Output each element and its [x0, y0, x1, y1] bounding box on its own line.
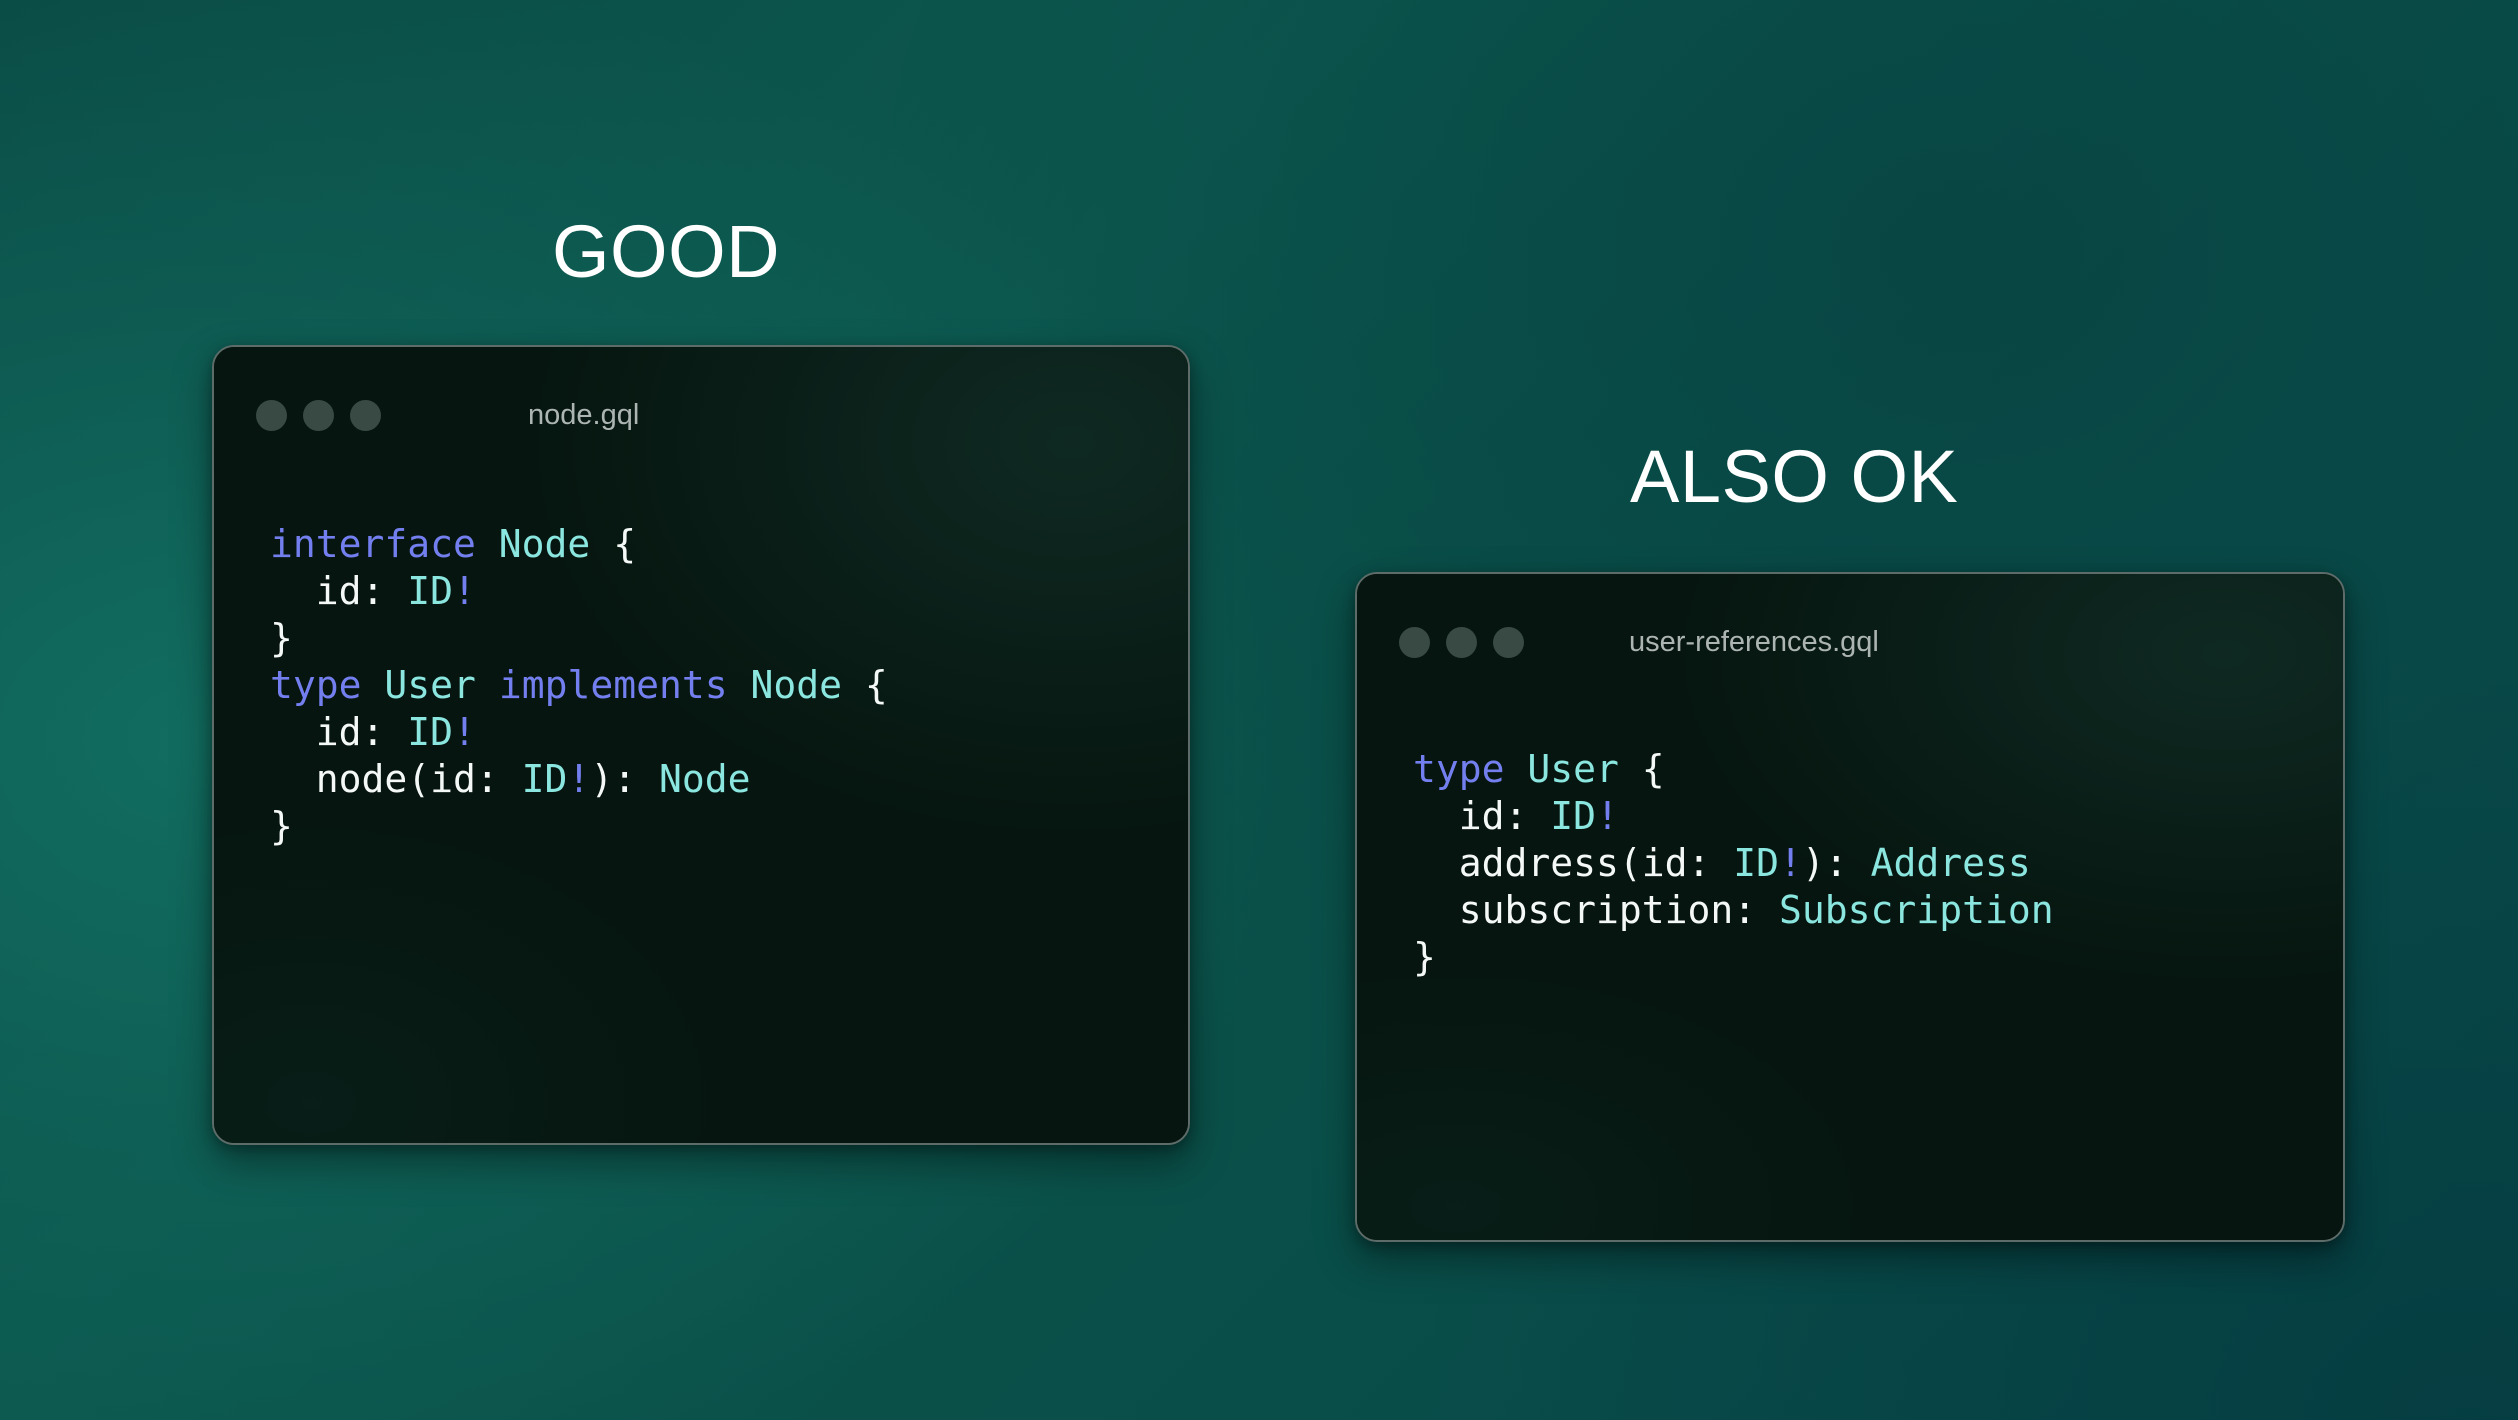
code-window-user-references[interactable]: user-references.gql type User { id: ID! … [1355, 572, 2345, 1242]
slide-canvas: GOOD node.gql interface Node { id: ID!}t… [0, 0, 2518, 1420]
code-token-bang: ! [453, 710, 476, 754]
code-token-bang: ! [1779, 841, 1802, 885]
code-token-plain: ): [590, 757, 659, 801]
code-token-plain: id: [1413, 794, 1550, 838]
code-token-plain: } [270, 616, 293, 660]
code-line: } [1413, 934, 2323, 981]
code-block-node[interactable]: interface Node { id: ID!}type User imple… [270, 521, 1168, 850]
maximize-dot-icon[interactable] [350, 400, 381, 431]
code-line: id: ID! [270, 568, 1168, 615]
close-dot-icon[interactable] [256, 400, 287, 431]
code-token-plain: } [270, 804, 293, 848]
code-token-plain: ): [1802, 841, 1871, 885]
code-window-user-references-titlebar: user-references.gql [1357, 622, 2343, 662]
code-token-type: ID [1550, 794, 1596, 838]
code-line: } [270, 803, 1168, 850]
code-token-plain [1505, 747, 1528, 791]
code-token-keyword: implements [499, 663, 728, 707]
code-token-plain: subscription: [1413, 888, 1779, 932]
code-line: } [270, 615, 1168, 662]
code-line: node(id: ID!): Node [270, 756, 1168, 803]
code-line: address(id: ID!): Address [1413, 840, 2323, 887]
code-token-type: ID [407, 710, 453, 754]
code-line: id: ID! [1413, 793, 2323, 840]
code-token-bang: ! [1596, 794, 1619, 838]
code-token-type: ID [522, 757, 568, 801]
code-token-plain: address(id: [1413, 841, 1733, 885]
code-token-plain: { [590, 522, 636, 566]
code-token-plain [362, 663, 385, 707]
panel-heading-good: GOOD [552, 215, 780, 289]
filename-label: node.gql [528, 401, 639, 430]
code-window-node-titlebar: node.gql [214, 395, 1188, 435]
minimize-dot-icon[interactable] [303, 400, 334, 431]
code-token-plain: id: [270, 569, 407, 613]
close-dot-icon[interactable] [1399, 627, 1430, 658]
code-token-type: Address [1871, 841, 2031, 885]
code-token-plain [476, 522, 499, 566]
code-token-type: Node [750, 663, 842, 707]
code-line: subscription: Subscription [1413, 887, 2323, 934]
code-token-keyword: interface [270, 522, 476, 566]
code-token-type: User [384, 663, 476, 707]
traffic-lights [256, 400, 381, 431]
panel-heading-also-ok: ALSO OK [1630, 440, 1958, 514]
code-token-type: Node [499, 522, 591, 566]
code-token-plain [476, 663, 499, 707]
code-window-node[interactable]: node.gql interface Node { id: ID!}type U… [212, 345, 1190, 1145]
code-line: type User implements Node { [270, 662, 1168, 709]
code-token-bang: ! [453, 569, 476, 613]
maximize-dot-icon[interactable] [1493, 627, 1524, 658]
code-token-plain: } [1413, 935, 1436, 979]
code-token-type: User [1527, 747, 1619, 791]
code-token-type: ID [1733, 841, 1779, 885]
traffic-lights [1399, 627, 1524, 658]
code-line: id: ID! [270, 709, 1168, 756]
code-token-plain: node(id: [270, 757, 522, 801]
filename-label: user-references.gql [1629, 628, 1879, 657]
code-token-plain: { [1619, 747, 1665, 791]
code-token-type: Node [659, 757, 751, 801]
code-token-plain: { [842, 663, 888, 707]
code-token-keyword: type [1413, 747, 1505, 791]
code-token-bang: ! [567, 757, 590, 801]
code-token-keyword: type [270, 663, 362, 707]
code-token-type: Subscription [1779, 888, 2054, 932]
code-line: type User { [1413, 746, 2323, 793]
code-line: interface Node { [270, 521, 1168, 568]
minimize-dot-icon[interactable] [1446, 627, 1477, 658]
code-token-type: ID [407, 569, 453, 613]
code-token-plain: id: [270, 710, 407, 754]
code-block-user-references[interactable]: type User { id: ID! address(id: ID!): Ad… [1413, 746, 2323, 981]
code-token-plain [728, 663, 751, 707]
